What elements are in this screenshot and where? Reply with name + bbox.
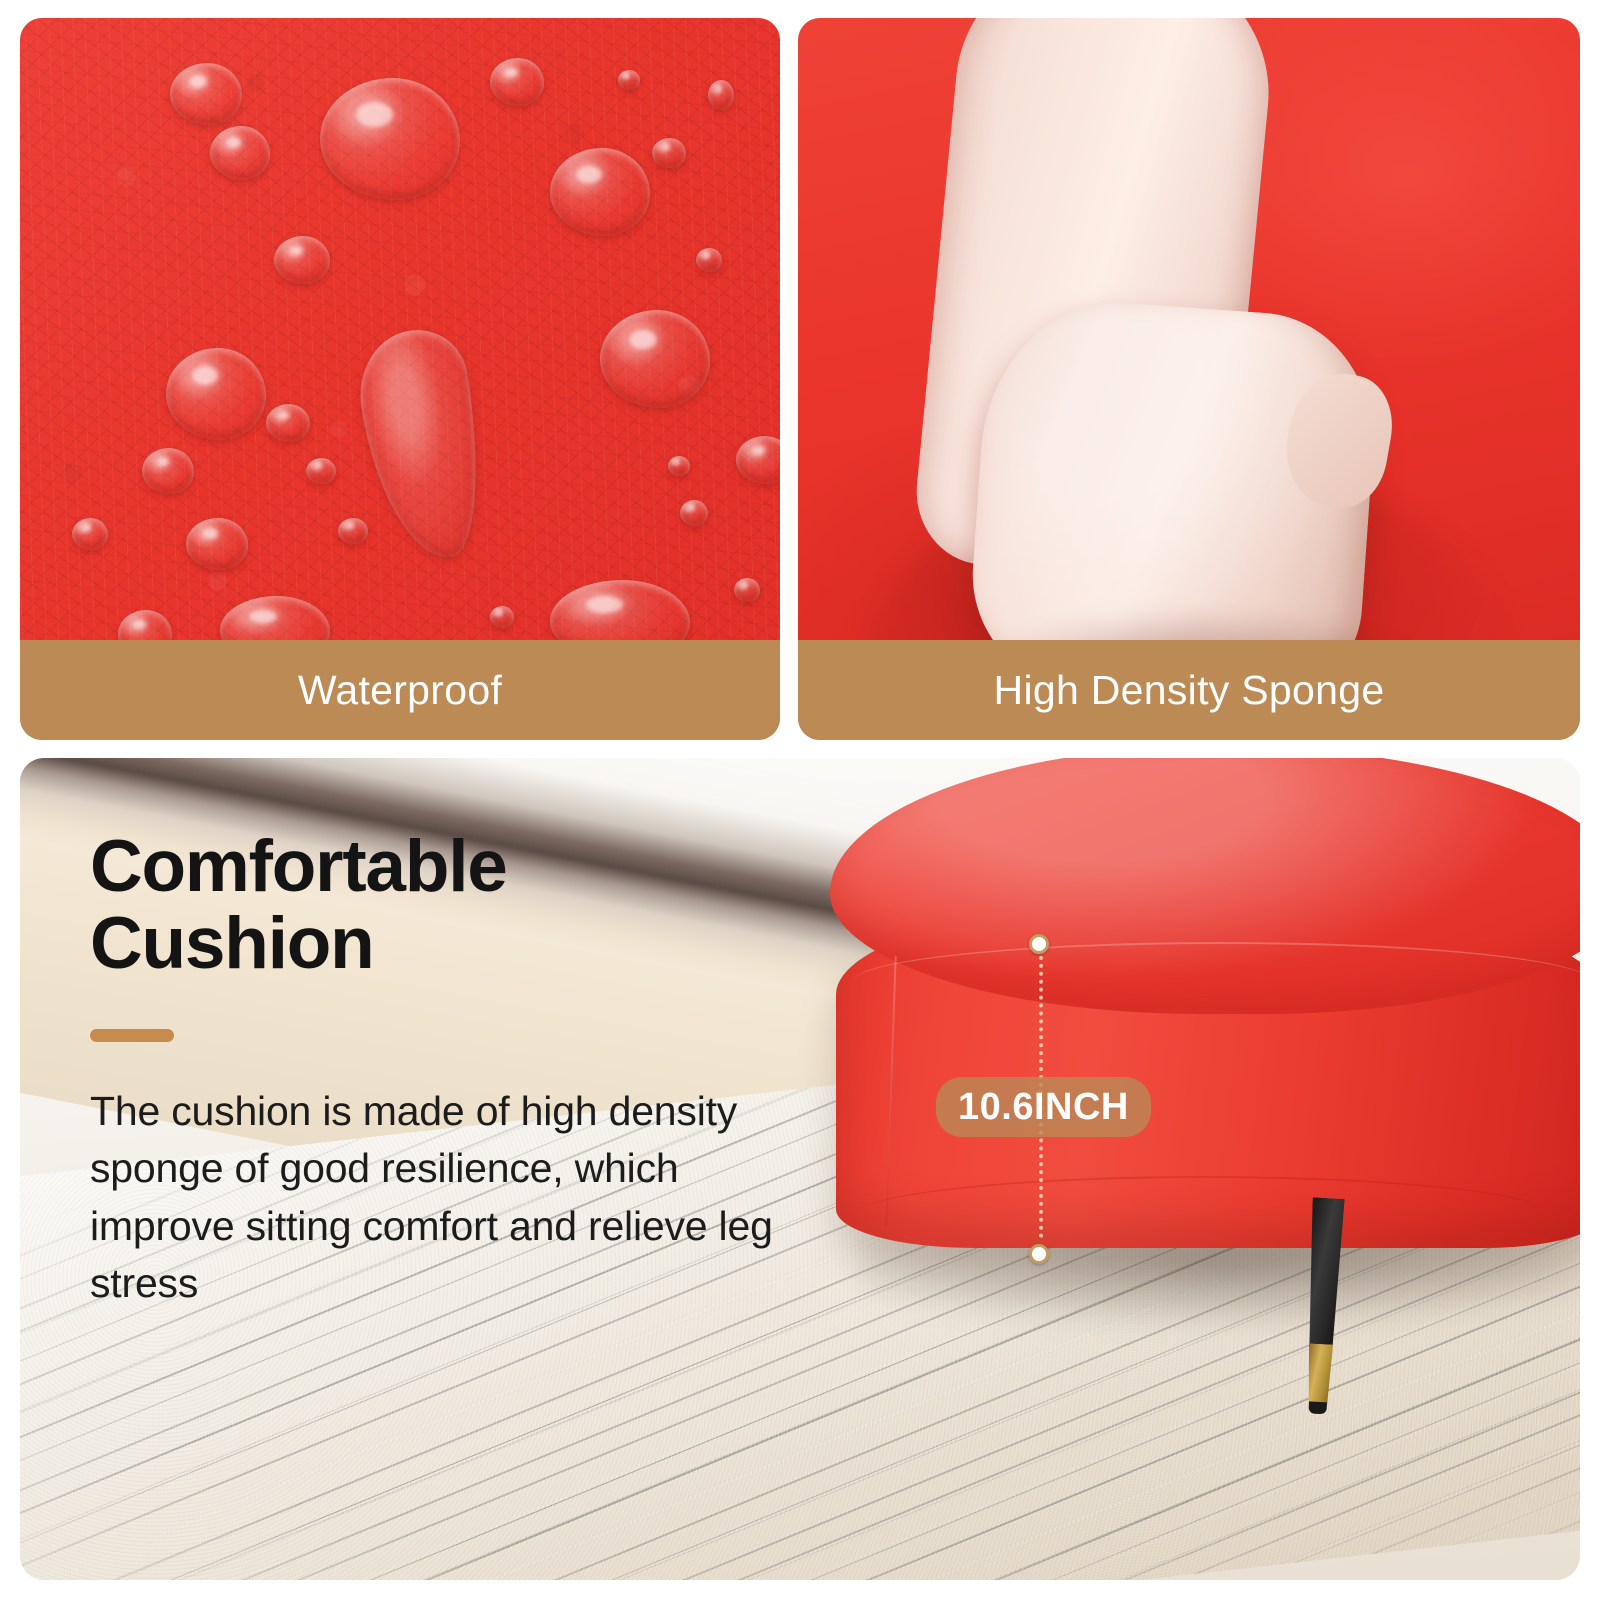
water-streak-icon [351,323,496,567]
leg-black-section [1305,1197,1345,1348]
water-drop-icon [274,236,330,284]
water-drop-icon [696,248,722,272]
leg-gold-tip [1306,1343,1333,1406]
waterproof-caption-band: Waterproof [20,640,780,740]
sponge-caption-label: High Density Sponge [994,667,1385,714]
sponge-caption-band: High Density Sponge [798,640,1580,740]
water-drop-icon [210,126,270,180]
water-drop-icon [490,606,514,628]
accent-divider [90,1029,174,1042]
waterproof-caption-label: Waterproof [298,667,502,714]
leg-foot-cap [1308,1401,1327,1414]
top-panel-row: Waterproof High Density Sponge [20,18,1580,740]
water-drop-icon [600,310,710,408]
water-drop-icon [652,138,686,168]
dimension-marker-top-icon [1029,934,1049,954]
water-drop-icon [72,518,108,550]
water-drop-icon [734,578,760,602]
high-density-sponge-panel: High Density Sponge [798,18,1580,740]
water-droplets-group [20,18,780,740]
dimension-marker-bottom-icon [1029,1244,1049,1264]
water-drop-icon [166,348,266,440]
water-drop-icon [306,458,336,484]
page-title: Comfortable Cushion [90,828,830,983]
water-drop-icon [618,70,640,90]
waterproof-panel: Waterproof [20,18,780,740]
product-feature-page: Waterproof High Density Sponge [0,0,1600,1600]
comfortable-cushion-panel: Comfortable Cushion The cushion is made … [20,758,1580,1580]
water-drop-icon [736,436,780,484]
water-drop-icon [266,404,310,442]
feature-text-block: Comfortable Cushion The cushion is made … [90,828,830,1312]
water-drop-icon [320,78,460,200]
headline-line-2: Cushion [90,905,830,982]
water-drop-icon [142,448,194,494]
water-drop-icon [708,80,734,110]
water-drop-icon [170,63,242,125]
feature-description: The cushion is made of high density spon… [90,1083,830,1313]
water-drop-icon [680,500,708,526]
water-drop-icon [338,518,368,544]
headline-line-1: Comfortable [90,828,830,905]
water-drop-icon [186,518,248,570]
water-drop-icon [490,58,544,106]
red-ottoman [800,758,1580,1366]
water-drop-icon [668,456,690,476]
dimension-badge: 10.6INCH [936,1077,1151,1137]
water-drop-icon [550,148,650,236]
